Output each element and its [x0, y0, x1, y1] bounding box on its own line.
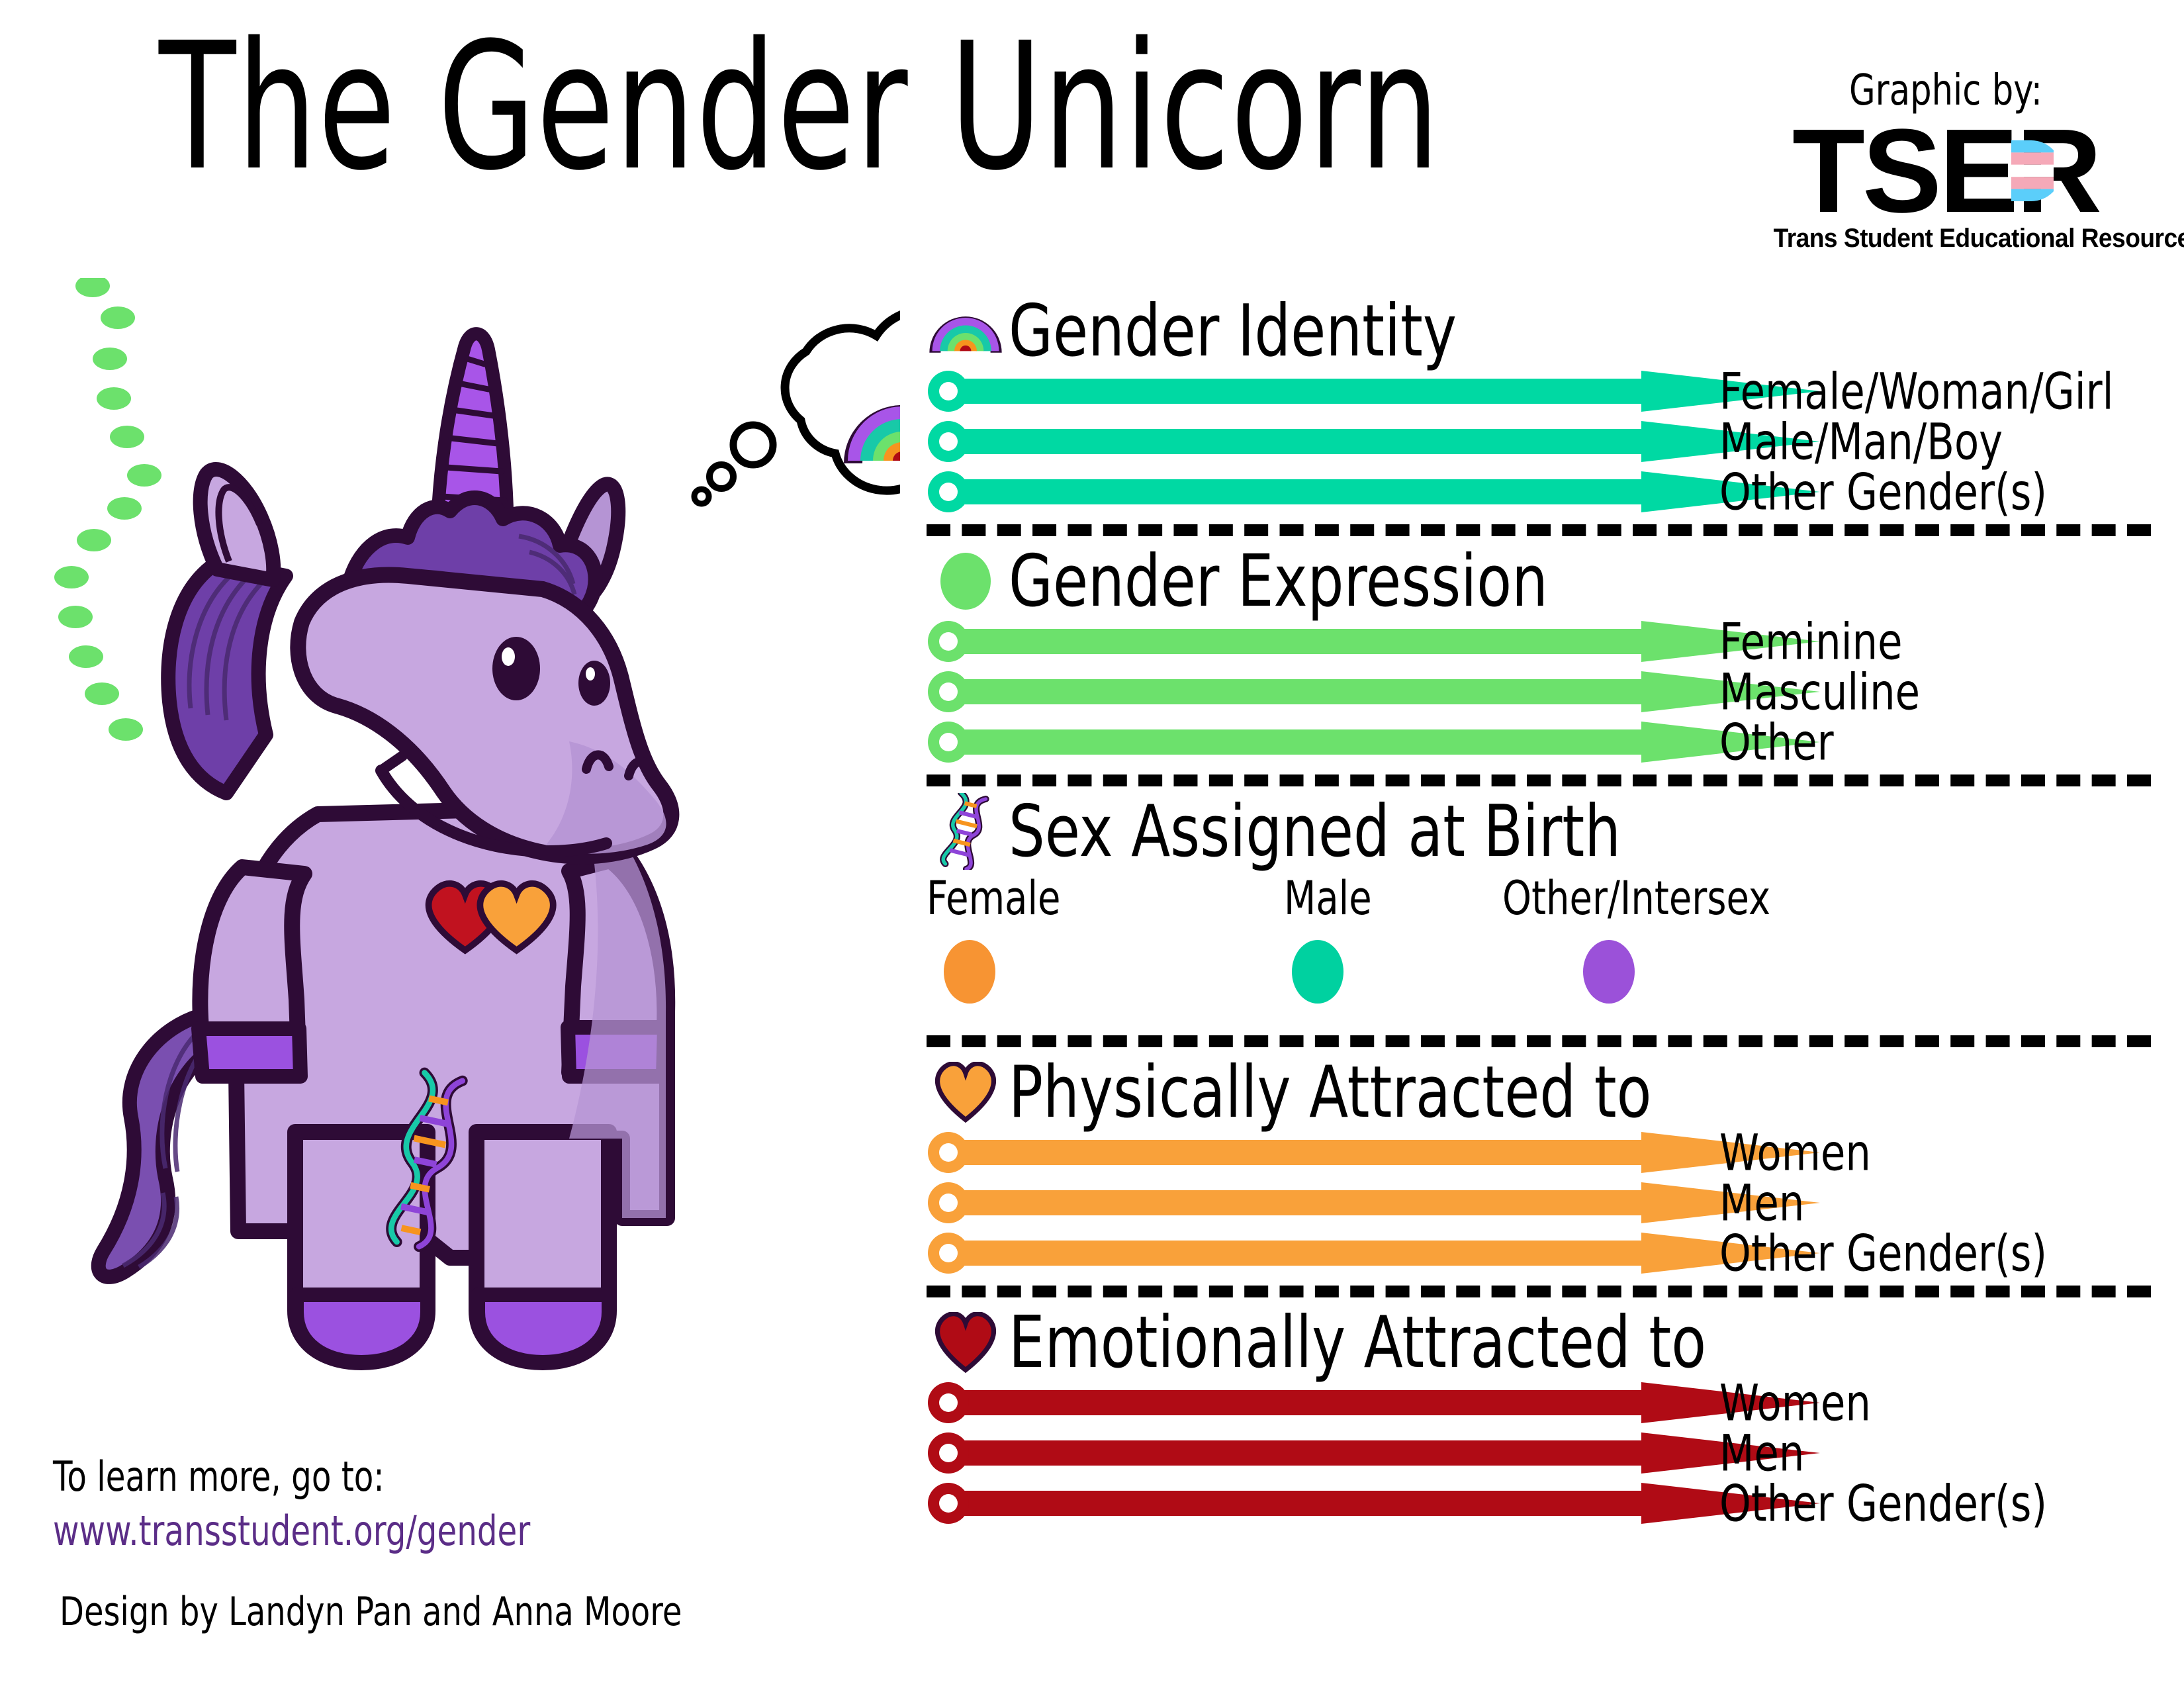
sections-column: Gender Identity Female/Woman/Girl Male/M…	[927, 291, 2151, 1533]
section-title: Gender Identity	[1009, 290, 1457, 373]
sex-option-swatch	[944, 940, 995, 1004]
website-link[interactable]: www.transstudent.org/gender	[53, 1504, 530, 1558]
section-gender-identity: Gender Identity Female/Woman/Girl Male/M…	[927, 291, 2151, 536]
page-title: The Gender Unicorn	[159, 20, 1440, 195]
section-header: Emotionally Attracted to	[927, 1303, 2151, 1382]
unicorn-svg	[40, 278, 900, 1403]
rainbow-icon	[927, 295, 1005, 367]
scale-arrow	[927, 471, 1820, 512]
section-rows: Female/Woman/Girl Male/Man/Boy Other Gen…	[927, 371, 2151, 512]
orange-heart-icon	[927, 1056, 1005, 1129]
sex-option-female[interactable]: Female	[927, 871, 1094, 1004]
section-header: Gender Identity	[927, 291, 2151, 371]
thought-bubble	[694, 310, 900, 504]
scale-arrow	[927, 1483, 1820, 1524]
sex-option-other-intersex[interactable]: Other/Intersex	[1502, 871, 1837, 1004]
scale-row[interactable]: Other Gender(s)	[927, 1483, 2151, 1524]
scale-arrow	[927, 722, 1820, 763]
green-circle-icon	[927, 545, 1005, 618]
tser-expansion-label: Trans Student Educational Resources	[1774, 224, 2118, 254]
sex-option-swatch	[1292, 940, 1343, 1004]
scale-row[interactable]: Masculine	[927, 671, 2151, 712]
scale-arrow	[927, 371, 1820, 412]
learn-more-label: To learn more, go to:	[53, 1450, 530, 1504]
section-title: Sex Assigned at Birth	[1009, 790, 1621, 873]
scale-label: Other	[1719, 713, 1834, 772]
section-header: Gender Expression	[927, 541, 2151, 621]
section-divider	[927, 774, 2151, 786]
scale-arrow	[927, 1382, 1820, 1423]
learn-more-block: To learn more, go to: www.transstudent.o…	[53, 1450, 530, 1558]
section-emotionally-attracted-to: Emotionally Attracted to Women Men	[927, 1303, 2151, 1524]
dna-icon	[927, 795, 1005, 868]
unicorn-illustration	[40, 278, 900, 1403]
section-divider	[927, 1035, 2151, 1047]
scale-row[interactable]: Other Gender(s)	[927, 471, 2151, 512]
scale-row[interactable]: Other	[927, 722, 2151, 763]
sex-option-swatch	[1583, 940, 1635, 1004]
section-physically-attracted-to: Physically Attracted to Women Men	[927, 1053, 2151, 1297]
sex-options: Female Male Other/Intersex	[927, 871, 2151, 1023]
section-title: Gender Expression	[1009, 540, 1548, 623]
scale-label: Other Gender(s)	[1719, 1474, 2047, 1533]
scale-arrow	[927, 1432, 1820, 1474]
section-title: Emotionally Attracted to	[1009, 1301, 1706, 1384]
section-gender-expression: Gender Expression Feminine Masculine	[927, 541, 2151, 786]
design-credit: Design by Landyn Pan and Anna Moore	[60, 1589, 682, 1635]
scale-row[interactable]: Men	[927, 1182, 2151, 1223]
scale-row[interactable]: Women	[927, 1132, 2151, 1173]
red-heart-icon	[927, 1306, 1005, 1379]
section-sex-assigned-at-birth: Sex Assigned at Birth Female Male Other/…	[927, 792, 2151, 1047]
sex-option-label: Other/Intersex	[1502, 871, 1770, 925]
scale-arrow	[927, 621, 1820, 662]
section-rows: Women Men Other Gender(s)	[927, 1132, 2151, 1274]
scale-label: Other Gender(s)	[1719, 1224, 2047, 1283]
tser-logo-text: TSER	[1792, 105, 2099, 238]
scale-arrow	[927, 1233, 1820, 1274]
scale-row[interactable]: Feminine	[927, 621, 2151, 662]
graphic-credit: Graphic by: TSER Trans Student Education…	[1760, 66, 2131, 254]
section-divider	[927, 524, 2151, 536]
scale-arrow	[927, 1132, 1820, 1173]
sex-option-label: Male	[1284, 871, 1372, 925]
scale-label: Other Gender(s)	[1719, 463, 2047, 522]
scale-row[interactable]: Male/Man/Boy	[927, 421, 2151, 462]
scale-arrow	[927, 1182, 1820, 1223]
section-header: Sex Assigned at Birth	[927, 792, 2151, 871]
sex-option-label: Female	[927, 871, 1060, 925]
scale-row[interactable]: Women	[927, 1382, 2151, 1423]
scale-row[interactable]: Female/Woman/Girl	[927, 371, 2151, 412]
section-title: Physically Attracted to	[1009, 1051, 1651, 1134]
section-divider	[927, 1286, 2151, 1297]
scale-arrow	[927, 671, 1820, 712]
sex-option-male[interactable]: Male	[1284, 871, 1394, 1004]
section-rows: Feminine Masculine Other	[927, 621, 2151, 763]
section-header: Physically Attracted to	[927, 1053, 2151, 1132]
scale-row[interactable]: Other Gender(s)	[927, 1233, 2151, 1274]
tser-logo: TSER	[1792, 117, 2099, 226]
scale-arrow	[927, 421, 1820, 462]
section-rows: Women Men Other Gender(s)	[927, 1382, 2151, 1524]
scale-row[interactable]: Men	[927, 1432, 2151, 1474]
